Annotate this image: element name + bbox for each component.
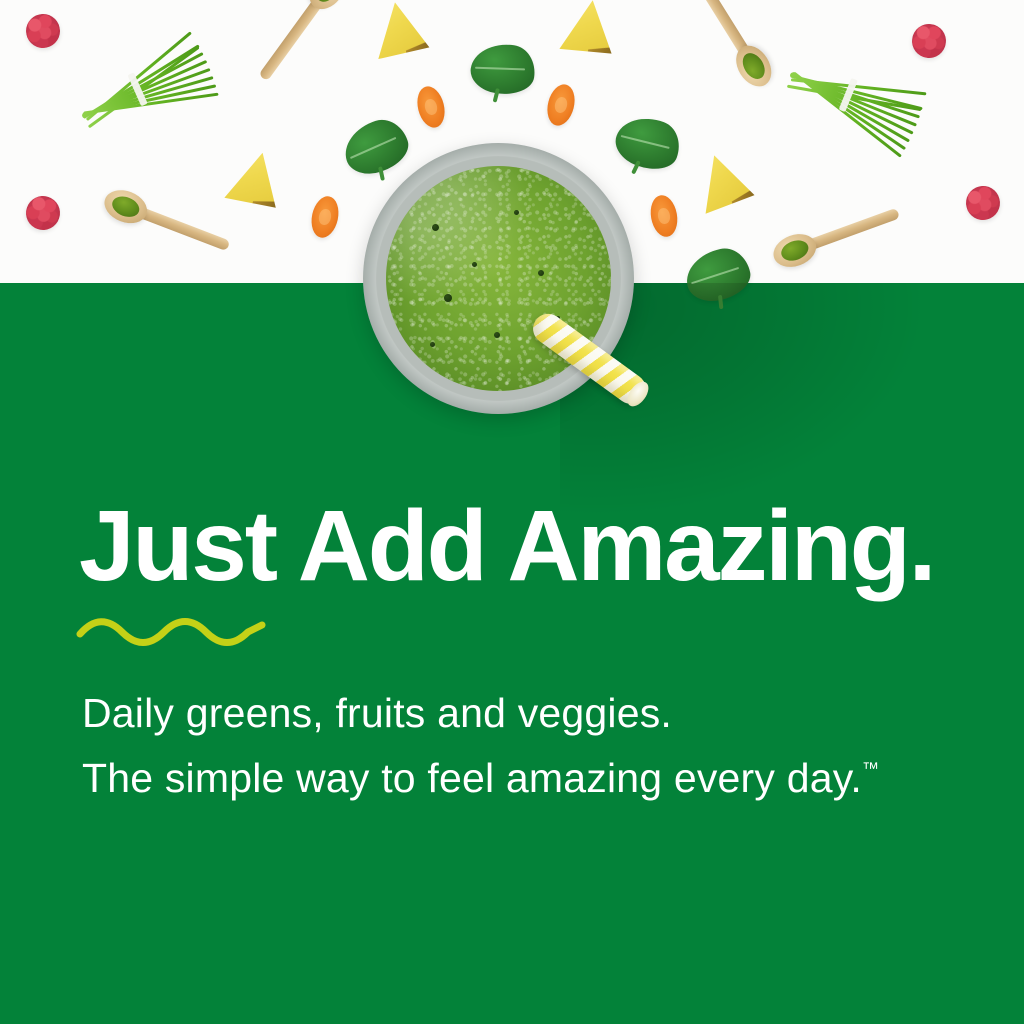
subhead: Daily greens, fruits and veggies. The si… <box>82 686 879 806</box>
subhead-line-2-text: The simple way to feel amazing every day… <box>82 755 862 801</box>
smoothie-speck <box>430 342 435 347</box>
trademark-symbol: ™ <box>862 759 879 778</box>
smoothie-speck <box>472 262 477 267</box>
smoothie-speck <box>514 210 519 215</box>
smoothie-speck <box>444 294 452 302</box>
promo-poster: Just Add Amazing. Daily greens, fruits a… <box>0 0 1024 1024</box>
subhead-line-1: Daily greens, fruits and veggies. <box>82 686 879 741</box>
subhead-line-2: The simple way to feel amazing every day… <box>82 741 879 806</box>
page-title: Just Add Amazing. <box>79 496 934 596</box>
squiggle-underline-icon <box>74 612 270 646</box>
smoothie-speck <box>538 270 544 276</box>
smoothie-speck <box>494 332 500 338</box>
smoothie-speck <box>432 224 439 231</box>
